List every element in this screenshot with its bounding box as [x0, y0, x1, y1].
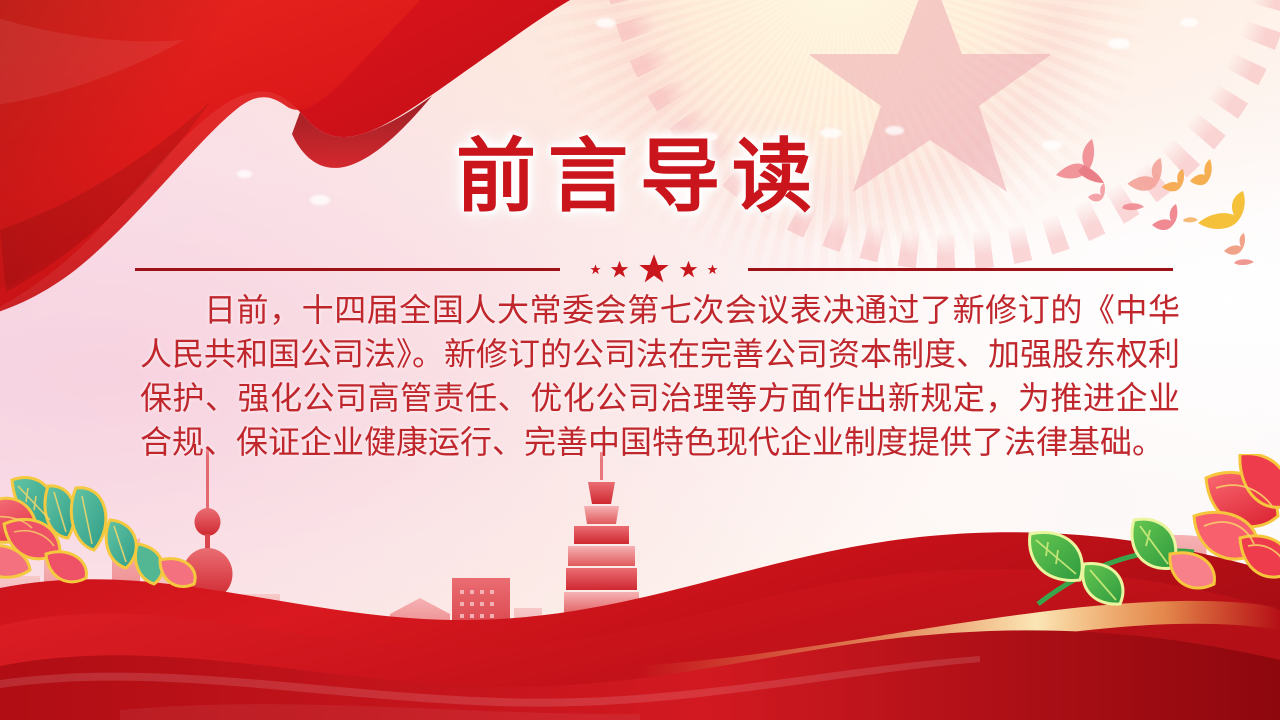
divider-line-left: [135, 268, 560, 271]
body-paragraph: 日前，十四届全国人大常委会第七次会议表决通过了新修订的《中华人民共和国公司法》。…: [140, 288, 1180, 464]
page-title: 前言导读: [0, 134, 1280, 220]
star-icon-sm-left: [610, 260, 629, 279]
star-icon-xs-right: [707, 264, 718, 275]
star-icon-lg-center: [638, 253, 670, 285]
star-icon-xs-left: [590, 264, 601, 275]
slide-canvas: 前言导读 日前，十四届: [0, 0, 1280, 720]
content-layer: 前言导读 日前，十四届: [0, 0, 1280, 720]
divider-line-right: [748, 268, 1173, 271]
star-icon-sm-right: [679, 260, 698, 279]
divider-stars: [560, 253, 748, 285]
divider: [135, 252, 1173, 286]
